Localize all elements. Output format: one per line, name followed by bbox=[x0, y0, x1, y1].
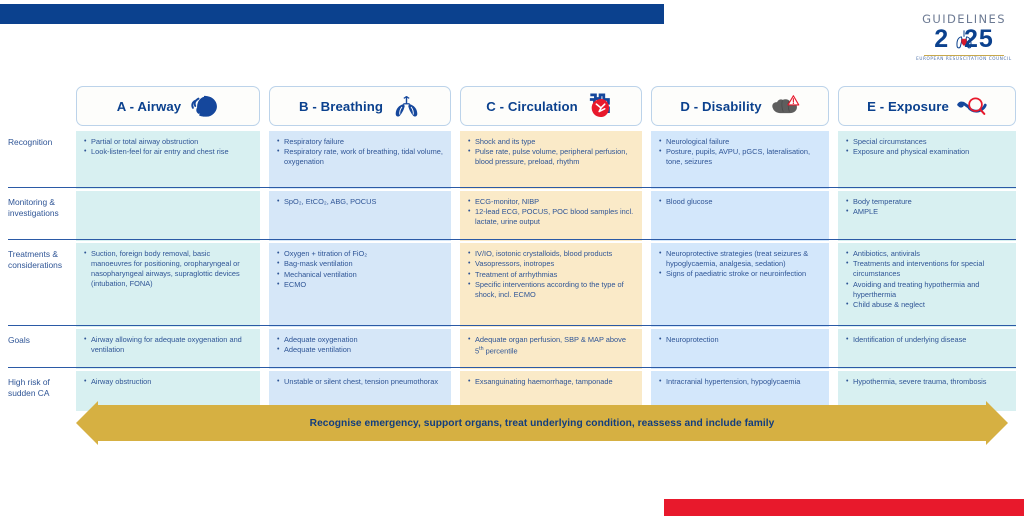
column-header-c[interactable]: C - Circulation bbox=[460, 86, 642, 126]
logo-year: 2025 bbox=[918, 27, 1010, 53]
cell-c-recognition: Shock and its typePulse rate, pulse volu… bbox=[460, 131, 642, 189]
bullet-item: Partial or total airway obstruction bbox=[84, 137, 252, 147]
bullet-item: Exsanguinating haemorrhage, tamponade bbox=[468, 377, 634, 387]
bullet-item: Adequate ventilation bbox=[277, 345, 443, 355]
bullet-item: Identification of underlying disease bbox=[846, 335, 1008, 345]
cell-d-goals: Neuroprotection bbox=[651, 329, 829, 369]
column-title-a: A - Airway bbox=[117, 99, 182, 114]
row-divider bbox=[8, 187, 1016, 188]
column-body-a: Partial or total airway obstructionLook-… bbox=[76, 131, 260, 411]
heart-icon bbox=[586, 93, 616, 119]
bullet-item: IV/IO, isotonic crystalloids, blood prod… bbox=[468, 249, 634, 259]
bullet-item: Unstable or silent chest, tension pneumo… bbox=[277, 377, 443, 387]
column-header-d[interactable]: D - Disability bbox=[651, 86, 829, 126]
bullet-item: SpO₂, EtCO₂, ABG, POCUS bbox=[277, 197, 443, 207]
column-title-e: E - Exposure bbox=[867, 99, 949, 114]
bullet-item: Treatments and interventions for special… bbox=[846, 259, 1008, 279]
column-body-d: Neurological failurePosture, pupils, AVP… bbox=[651, 131, 829, 411]
column-c: C - Circulation Shock and its typePulse … bbox=[460, 86, 642, 411]
bullet-item: Neurological failure bbox=[659, 137, 821, 147]
cell-e-monitoring: Body temperatureAMPLE bbox=[838, 191, 1016, 241]
cell-a-treatments: Suction, foreign body removal, basic man… bbox=[76, 243, 260, 327]
lungs-icon bbox=[391, 93, 421, 119]
erc-guidelines-logo: GUIDELINES 2025 EUROPEAN RESUSCITATION C… bbox=[918, 14, 1010, 61]
bullet-item: Neuroprotection bbox=[659, 335, 821, 345]
column-title-c: C - Circulation bbox=[486, 99, 578, 114]
row-label-recognition: Recognition bbox=[8, 137, 52, 148]
cell-b-monitoring: SpO₂, EtCO₂, ABG, POCUS bbox=[269, 191, 451, 241]
column-header-e[interactable]: E - Exposure bbox=[838, 86, 1016, 126]
bullet-item: Adequate oxygenation bbox=[277, 335, 443, 345]
bullet-item: ECMO bbox=[277, 280, 443, 290]
column-b: B - Breathing Respiratory failureRespira… bbox=[269, 86, 451, 411]
bullet-item: Shock and its type bbox=[468, 137, 634, 147]
bullet-item: Adequate organ perfusion, SBP & MAP abov… bbox=[468, 335, 634, 356]
row-label-high_risk: High risk of sudden CA bbox=[8, 377, 74, 398]
bullet-item: Avoiding and treating hypothermia and hy… bbox=[846, 280, 1008, 300]
bullet-item: Intracranial hypertension, hypoglycaemia bbox=[659, 377, 821, 387]
bullet-item: Airway allowing for adequate oxygenation… bbox=[84, 335, 252, 355]
bullet-item: Exposure and physical examination bbox=[846, 147, 1008, 157]
bullet-item: AMPLE bbox=[846, 207, 1008, 217]
column-e: E - Exposure Special circumstancesExposu… bbox=[838, 86, 1016, 411]
bullet-item: Body temperature bbox=[846, 197, 1008, 207]
cell-b-treatments: Oxygen + titration of FiO₂Bag-mask venti… bbox=[269, 243, 451, 327]
bullet-item: Look-listen-feel for air entry and chest… bbox=[84, 147, 252, 157]
cell-d-recognition: Neurological failurePosture, pupils, AVP… bbox=[651, 131, 829, 189]
bullet-item: Treatment of arrhythmias bbox=[468, 270, 634, 280]
cell-e-treatments: Antibiotics, antiviralsTreatments and in… bbox=[838, 243, 1016, 327]
row-divider bbox=[8, 325, 1016, 326]
top-accent-bar bbox=[0, 4, 664, 24]
cell-e-goals: Identification of underlying disease bbox=[838, 329, 1016, 369]
column-body-e: Special circumstancesExposure and physic… bbox=[838, 131, 1016, 411]
bullet-item: Mechanical ventilation bbox=[277, 270, 443, 280]
logo-year-left: 2 bbox=[934, 25, 949, 53]
bottom-accent-bar bbox=[664, 499, 1024, 516]
column-title-b: B - Breathing bbox=[299, 99, 383, 114]
bullet-item: ECG-monitor, NIBP bbox=[468, 197, 634, 207]
column-d: D - Disability Neurological failurePostu… bbox=[651, 86, 829, 411]
column-header-b[interactable]: B - Breathing bbox=[269, 86, 451, 126]
summary-arrow-banner: Recognise emergency, support organs, tre… bbox=[76, 401, 1008, 445]
bullet-item: Blood glucose bbox=[659, 197, 821, 207]
row-label-treatments: Treatments & considerations bbox=[8, 249, 74, 270]
arrow-banner-text: Recognise emergency, support organs, tre… bbox=[76, 401, 1008, 445]
bullet-item: Bag-mask ventilation bbox=[277, 259, 443, 269]
brain-warning-icon bbox=[770, 93, 800, 119]
cell-d-monitoring: Blood glucose bbox=[651, 191, 829, 241]
bullet-item: Specific interventions according to the … bbox=[468, 280, 634, 300]
logo-divider bbox=[924, 55, 1004, 56]
cell-a-monitoring bbox=[76, 191, 260, 241]
column-body-c: Shock and its typePulse rate, pulse volu… bbox=[460, 131, 642, 411]
bullet-item: Antibiotics, antivirals bbox=[846, 249, 1008, 259]
bullet-item: Hypothermia, severe trauma, thrombosis bbox=[846, 377, 1008, 387]
bullet-item: Child abuse & neglect bbox=[846, 300, 1008, 310]
cell-a-recognition: Partial or total airway obstructionLook-… bbox=[76, 131, 260, 189]
bullet-item: Signs of paediatric stroke or neuroinfec… bbox=[659, 269, 821, 279]
bullet-item: Oxygen + titration of FiO₂ bbox=[277, 249, 443, 259]
logo-subtitle: EUROPEAN RESUSCITATION COUNCIL bbox=[911, 57, 1017, 61]
bullet-item: Special circumstances bbox=[846, 137, 1008, 147]
row-divider bbox=[8, 367, 1016, 368]
bullet-item: Neuroprotective strategies (treat seizur… bbox=[659, 249, 821, 269]
cell-c-goals: Adequate organ perfusion, SBP & MAP abov… bbox=[460, 329, 642, 369]
row-label-monitoring: Monitoring & investigations bbox=[8, 197, 74, 218]
cell-d-treatments: Neuroprotective strategies (treat seizur… bbox=[651, 243, 829, 327]
bullet-item: Airway obstruction bbox=[84, 377, 252, 387]
cell-b-goals: Adequate oxygenationAdequate ventilation bbox=[269, 329, 451, 369]
bullet-item: Posture, pupils, AVPU, pGCS, lateralisat… bbox=[659, 147, 821, 167]
airway-head-icon bbox=[189, 93, 219, 119]
bullet-item: Respiratory rate, work of breathing, tid… bbox=[277, 147, 443, 167]
column-a: A - Airway Partial or total airway obstr… bbox=[76, 86, 260, 411]
cell-a-goals: Airway allowing for adequate oxygenation… bbox=[76, 329, 260, 369]
cell-e-recognition: Special circumstancesExposure and physic… bbox=[838, 131, 1016, 189]
body-exposure-icon bbox=[957, 93, 987, 119]
cell-c-treatments: IV/IO, isotonic crystalloids, blood prod… bbox=[460, 243, 642, 327]
row-divider bbox=[8, 239, 1016, 240]
row-label-goals: Goals bbox=[8, 335, 30, 346]
bullet-item: Vasopressors, inotropes bbox=[468, 259, 634, 269]
bullet-item: 12-lead ECG, POCUS, POC blood samples in… bbox=[468, 207, 634, 227]
column-title-d: D - Disability bbox=[680, 99, 761, 114]
cell-b-recognition: Respiratory failureRespiratory rate, wor… bbox=[269, 131, 451, 189]
bullet-item: Pulse rate, pulse volume, peripheral per… bbox=[468, 147, 634, 167]
bullet-item: Respiratory failure bbox=[277, 137, 443, 147]
column-header-a[interactable]: A - Airway bbox=[76, 86, 260, 126]
lungs-heart-mark-icon bbox=[955, 28, 974, 50]
column-body-b: Respiratory failureRespiratory rate, wor… bbox=[269, 131, 451, 411]
cell-c-monitoring: ECG-monitor, NIBP12-lead ECG, POCUS, POC… bbox=[460, 191, 642, 241]
bullet-item: Suction, foreign body removal, basic man… bbox=[84, 249, 252, 289]
